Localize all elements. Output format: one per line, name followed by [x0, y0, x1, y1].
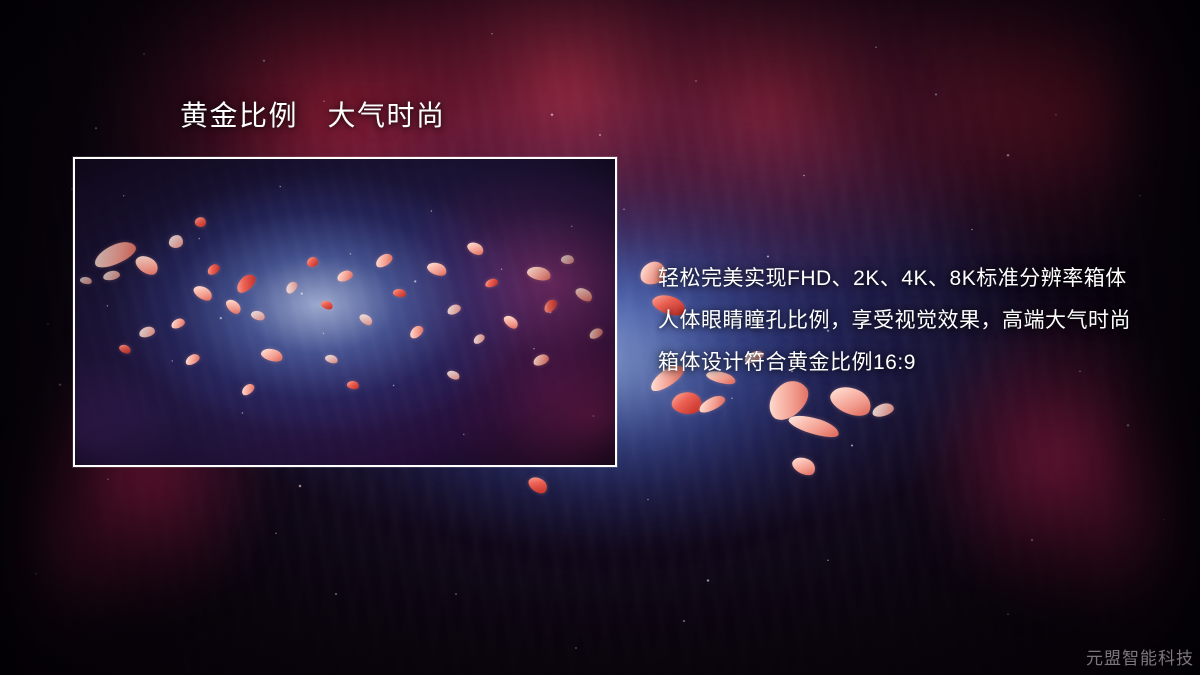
petal-bg-3: [697, 393, 727, 415]
body-line-3: 箱体设计符合黄金比例16:9: [658, 342, 1158, 384]
frame-vignette: [75, 159, 615, 465]
petal-bg-12: [526, 473, 550, 497]
petal-bg-6: [826, 380, 875, 422]
petal-bg-5: [787, 410, 841, 441]
presentation-slide: 黄金比例 大气时尚 轻松完美实现FHD、2K、4K、8K标准分辨率箱体 人体眼睛…: [0, 0, 1200, 675]
image-frame-content: [75, 159, 615, 465]
image-frame: [73, 157, 617, 467]
company-watermark: 元盟智能科技: [1086, 644, 1194, 669]
slide-title: 黄金比例 大气时尚: [180, 102, 446, 130]
petal-bg-8: [790, 453, 819, 479]
petal-bg-7: [871, 402, 895, 419]
body-line-1: 轻松完美实现FHD、2K、4K、8K标准分辨率箱体: [658, 258, 1158, 300]
body-line-2: 人体眼睛瞳孔比例，享受视觉效果，高端大气时尚: [658, 300, 1158, 342]
petal-bg-1: [670, 390, 703, 417]
body-text-block: 轻松完美实现FHD、2K、4K、8K标准分辨率箱体 人体眼睛瞳孔比例，享受视觉效…: [658, 258, 1158, 384]
